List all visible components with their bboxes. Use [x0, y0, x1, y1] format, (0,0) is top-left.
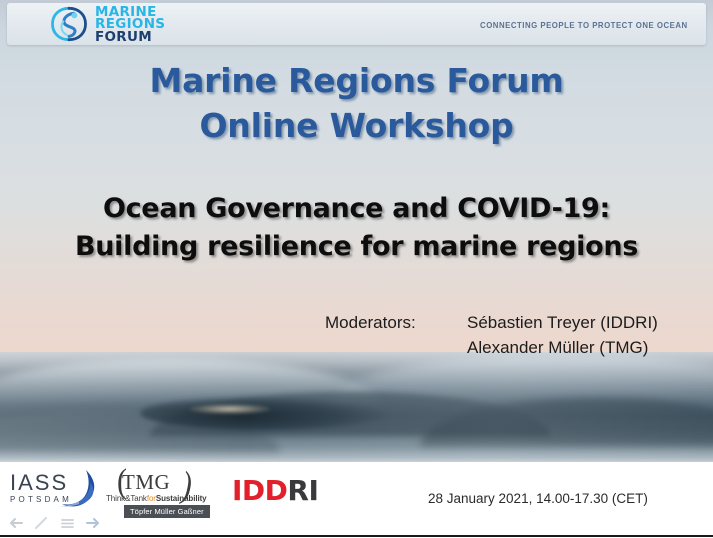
- lines-icon[interactable]: [60, 517, 75, 530]
- header-tagline: CONNECTING PEOPLE TO PROTECT ONE OCEAN: [480, 20, 688, 30]
- ocean-sheen: [0, 352, 713, 462]
- logo-iass: IASS POTSDAM: [8, 470, 104, 510]
- moderators-label: Moderators:: [325, 310, 467, 335]
- logo-wordmark: MARINE REGIONS FORUM: [95, 5, 165, 43]
- tmg-tag-for: for: [147, 494, 156, 503]
- tmg-tag-tank: Tank: [130, 494, 147, 503]
- logo-tmg: ( TMG ) Think&TankforSustainability Töpf…: [104, 470, 204, 518]
- iddri-dark-part: RI: [287, 474, 318, 507]
- tmg-tagline: Think&TankforSustainability: [106, 494, 207, 503]
- tmg-main-text: TMG: [122, 470, 170, 495]
- tmg-badge: Töpfer Müller Gaßner: [124, 505, 210, 518]
- pen-icon[interactable]: [34, 517, 49, 530]
- logo-line-forum: FORUM: [95, 31, 165, 43]
- main-title: Marine Regions Forum Online Workshop: [0, 58, 713, 148]
- subtitle: Ocean Governance and COVID-19: Building …: [0, 190, 713, 266]
- subtitle-line-2: Building resilience for marine regions: [0, 228, 713, 266]
- iddri-red-part: IDD: [232, 474, 287, 507]
- header-bar: MARINE REGIONS FORUM CONNECTING PEOPLE T…: [7, 3, 706, 45]
- moderators-block: Moderators: Sébastien Treyer (IDDRI) Ale…: [325, 310, 658, 360]
- moderator-name: Sébastien Treyer (IDDRI): [467, 310, 658, 335]
- moderators-names: Sébastien Treyer (IDDRI) Alexander Mülle…: [467, 310, 658, 360]
- marine-regions-forum-emblem-icon: [49, 5, 89, 43]
- redo-arrow-icon[interactable]: [86, 517, 101, 530]
- annotation-toolbar[interactable]: [8, 512, 108, 534]
- tmg-tag-sustainability: Sustainability: [156, 494, 207, 503]
- moderator-name: Alexander Müller (TMG): [467, 335, 658, 360]
- presentation-slide: MARINE REGIONS FORUM CONNECTING PEOPLE T…: [0, 0, 713, 538]
- undo-arrow-icon[interactable]: [8, 517, 23, 530]
- title-line-1: Marine Regions Forum: [0, 58, 713, 103]
- ocean-photo-background: [0, 352, 713, 462]
- brand-logo: MARINE REGIONS FORUM: [49, 5, 165, 43]
- bottom-divider: [0, 535, 713, 537]
- event-date: 28 January 2021, 14.00-17.30 (CET): [428, 491, 648, 506]
- title-line-2: Online Workshop: [0, 103, 713, 148]
- subtitle-line-1: Ocean Governance and COVID-19:: [0, 190, 713, 228]
- tmg-tag-think: Think: [106, 494, 125, 503]
- logo-iddri: IDDRI: [232, 477, 318, 505]
- iass-wave-swoosh-icon: [56, 468, 106, 515]
